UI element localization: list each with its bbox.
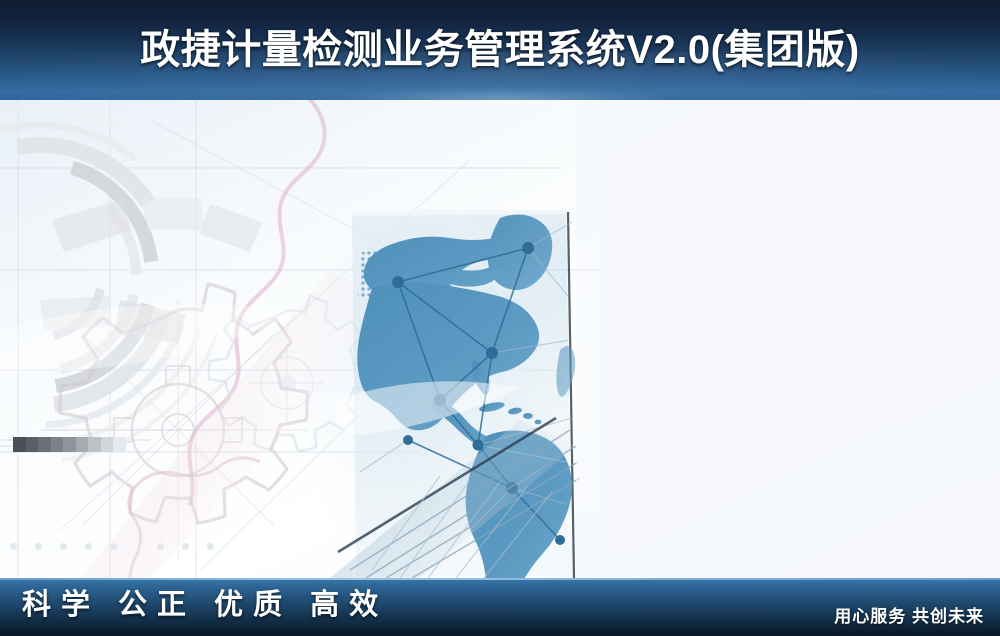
footer-divider: [0, 578, 1000, 580]
dot: [35, 543, 42, 550]
dot: [207, 543, 214, 550]
grayscale-step-wedge: [13, 437, 126, 452]
wedge-step: [76, 437, 89, 452]
dot: [182, 543, 189, 550]
footer-tagline: 用心服务 共创未来: [834, 608, 984, 625]
splash-artwork-stage: [0, 100, 1000, 578]
wedge-step: [63, 437, 76, 452]
dot: [110, 543, 117, 550]
splash-artwork-svg: [0, 100, 1000, 578]
footer-slogan: 科学 公正 优质 高效: [22, 591, 388, 620]
wedge-step: [101, 437, 114, 452]
dot: [10, 543, 17, 550]
wedge-step: [113, 437, 126, 452]
wedge-step: [51, 437, 64, 452]
wedge-step: [88, 437, 101, 452]
decorative-dot-row: [10, 543, 232, 550]
app-header: 政捷计量检测业务管理系统V2.0(集团版): [0, 0, 1000, 100]
header-glow-decoration: [330, 88, 670, 100]
page-title: 政捷计量检测业务管理系统V2.0(集团版): [0, 30, 1000, 70]
dot: [85, 543, 92, 550]
wedge-step: [26, 437, 39, 452]
app-footer: 科学 公正 优质 高效 用心服务 共创未来: [0, 578, 1000, 636]
dot: [60, 543, 67, 550]
splash-screen-window: 政捷计量检测业务管理系统V2.0(集团版): [0, 0, 1000, 636]
wedge-step: [38, 437, 51, 452]
dot: [157, 543, 164, 550]
wedge-step: [13, 437, 26, 452]
